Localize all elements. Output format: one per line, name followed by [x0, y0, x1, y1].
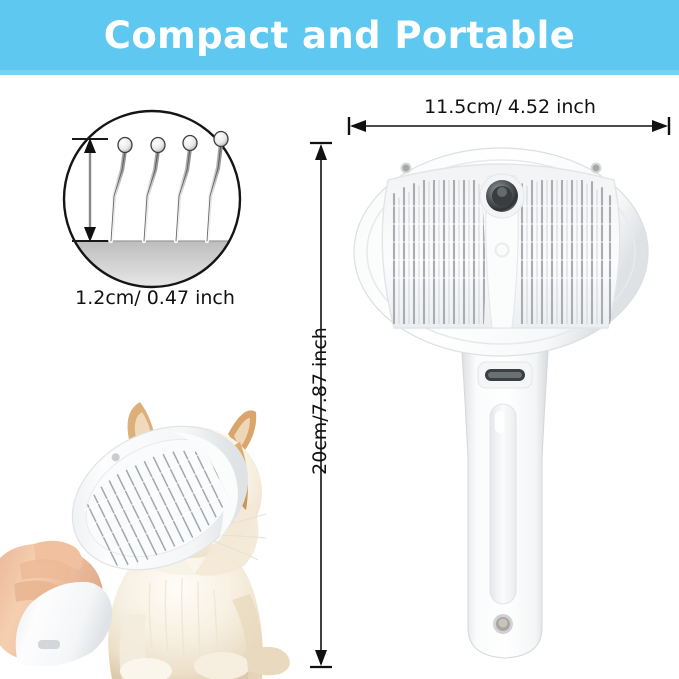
- center-button: [480, 174, 524, 218]
- center-small-hole: [495, 243, 510, 258]
- lifestyle-photo: [0, 368, 300, 679]
- height-dimension-label: 20cm/7.87 inch: [309, 326, 331, 476]
- brush-handle: VG-GQ: [460, 324, 550, 658]
- handle-slot-groove: [490, 404, 516, 604]
- pin-length-caption: 1.2cm/ 0.47 inch: [40, 287, 270, 309]
- bristle-pins: [111, 132, 228, 242]
- banner-underline: [0, 70, 679, 75]
- bristle-pin-detail-diagram: [50, 108, 255, 290]
- product-infographic-page: Compact and Portable: [0, 0, 679, 679]
- head-screw-left: [401, 163, 412, 174]
- page-title: Compact and Portable: [0, 0, 679, 70]
- brush-head: [354, 148, 648, 356]
- bristle-field-right: [516, 176, 618, 324]
- handle-screw-hole: [493, 614, 513, 634]
- product-brush-image: VG-GQ: [352, 128, 658, 663]
- head-screw-right: [591, 163, 602, 174]
- usb-c-port: [478, 362, 532, 388]
